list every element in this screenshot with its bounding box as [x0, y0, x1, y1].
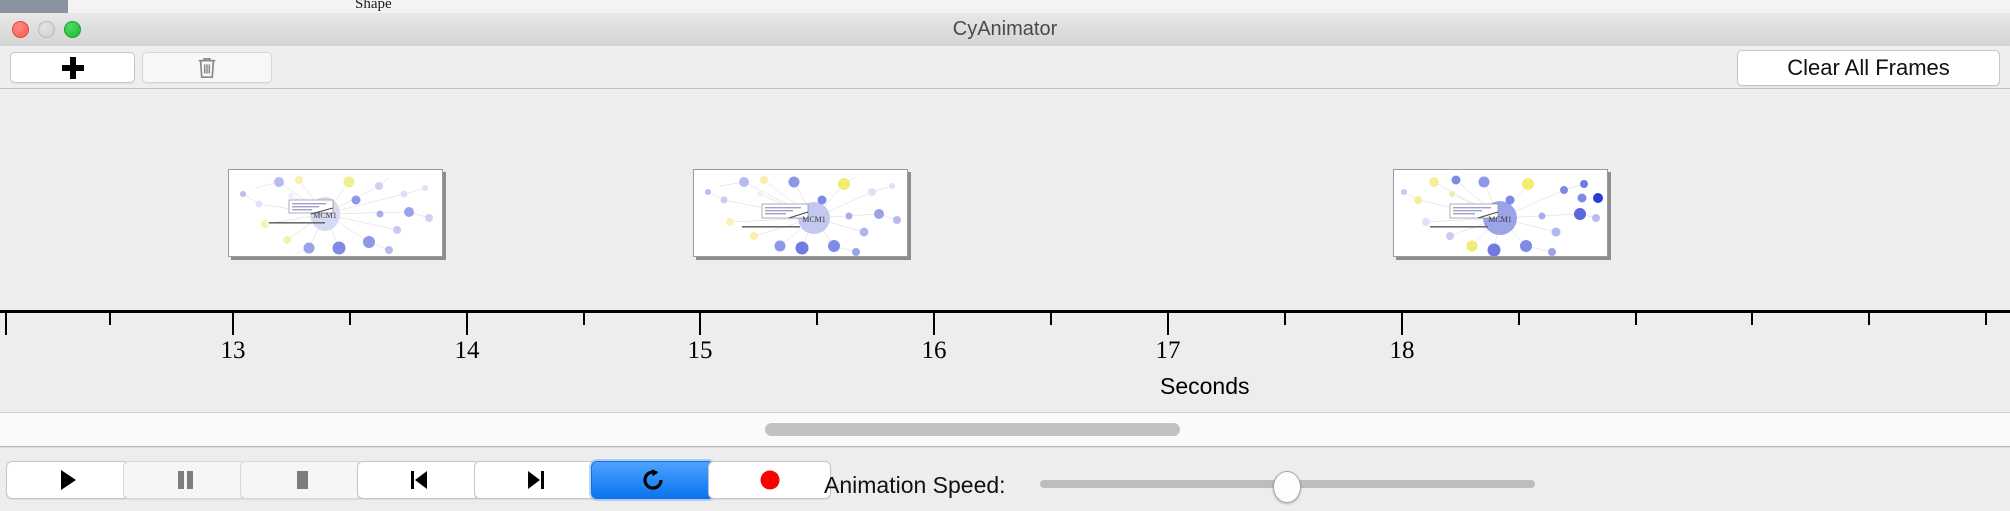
- axis-title: Seconds: [1160, 373, 1250, 400]
- skip-forward-icon: [524, 468, 548, 492]
- axis-label-6: 18: [1372, 337, 1432, 365]
- animation-speed-slider-thumb[interactable]: [1273, 471, 1301, 503]
- delete-frame-button[interactable]: [142, 52, 272, 83]
- axis-label-1: 13: [203, 337, 263, 365]
- axis-label-0: 2: [0, 337, 6, 365]
- background-fragment-1: [68, 0, 189, 13]
- axis-tick-minor: [1635, 313, 1637, 325]
- axis-label-4: 16: [904, 337, 964, 365]
- toolbar: Clear All Frames: [0, 46, 2010, 89]
- svg-text:MCM1: MCM1: [313, 211, 337, 220]
- playback-control-bar: Animation Speed:: [0, 447, 2010, 511]
- axis-tick-major: [5, 313, 7, 335]
- pause-icon: [174, 468, 196, 492]
- network-graph-thumbnail: MCM1: [1394, 170, 1607, 256]
- timeline-frame-3[interactable]: MCM1: [1393, 169, 1608, 257]
- timeline-axis: [0, 310, 2010, 313]
- stop-icon: [291, 468, 313, 492]
- window-title: CyAnimator: [0, 13, 2010, 46]
- background-fragment-3: [245, 0, 309, 13]
- axis-tick-minor: [1518, 313, 1520, 325]
- add-frame-button[interactable]: [10, 52, 135, 83]
- trash-icon: [196, 56, 218, 80]
- record-button[interactable]: [708, 461, 831, 499]
- loop-icon: [640, 467, 666, 493]
- pause-button[interactable]: [123, 461, 246, 499]
- axis-label-5: 17: [1138, 337, 1198, 365]
- cyanimator-window: Shape CyAnimator Clear All Frames: [0, 0, 2010, 510]
- network-graph-thumbnail: MCM1: [229, 170, 442, 256]
- axis-tick-major: [933, 313, 935, 335]
- axis-tick-major: [1167, 313, 1169, 335]
- axis-tick-minor: [1284, 313, 1286, 325]
- title-bar: CyAnimator: [0, 13, 2010, 47]
- axis-tick-minor: [1868, 313, 1870, 325]
- scrollbar-thumb[interactable]: [765, 423, 1180, 436]
- background-fragment-5: [403, 0, 999, 13]
- background-window-dark: [0, 0, 68, 13]
- plus-icon: [62, 57, 84, 79]
- axis-tick-minor: [583, 313, 585, 325]
- timeline-panel[interactable]: MCM1: [0, 89, 2010, 413]
- skip-back-icon: [407, 468, 431, 492]
- axis-label-2: 14: [437, 337, 497, 365]
- axis-label-3: 15: [670, 337, 730, 365]
- background-fragment-2: [188, 0, 246, 13]
- timeline-scrollbar[interactable]: [0, 413, 2010, 447]
- axis-tick-major: [699, 313, 701, 335]
- timeline-frame-2[interactable]: MCM1: [693, 169, 908, 257]
- network-graph-thumbnail: MCM1: [694, 170, 907, 256]
- clear-all-frames-button[interactable]: Clear All Frames: [1737, 50, 2000, 86]
- axis-tick-minor: [1751, 313, 1753, 325]
- loop-button[interactable]: [591, 461, 714, 499]
- axis-tick-major: [466, 313, 468, 335]
- axis-tick-major: [232, 313, 234, 335]
- record-icon: [758, 468, 782, 492]
- axis-tick-minor: [1050, 313, 1052, 325]
- svg-text:MCM1: MCM1: [802, 215, 826, 224]
- axis-tick-minor: [349, 313, 351, 325]
- next-frame-button[interactable]: [474, 461, 597, 499]
- play-icon: [57, 468, 79, 492]
- svg-text:MCM1: MCM1: [1488, 215, 1512, 224]
- axis-tick-minor: [1985, 313, 1987, 325]
- background-windows-strip: Shape: [0, 0, 2010, 13]
- stop-button[interactable]: [240, 461, 363, 499]
- timeline-frame-1[interactable]: MCM1: [228, 169, 443, 257]
- animation-speed-label: Animation Speed:: [824, 472, 1006, 499]
- axis-tick-minor: [109, 313, 111, 325]
- previous-frame-button[interactable]: [357, 461, 480, 499]
- axis-tick-major: [1401, 313, 1403, 335]
- background-fragment-6: [998, 0, 2010, 13]
- play-button[interactable]: [6, 461, 129, 499]
- axis-tick-minor: [816, 313, 818, 325]
- background-fragment-label: Shape: [355, 0, 392, 13]
